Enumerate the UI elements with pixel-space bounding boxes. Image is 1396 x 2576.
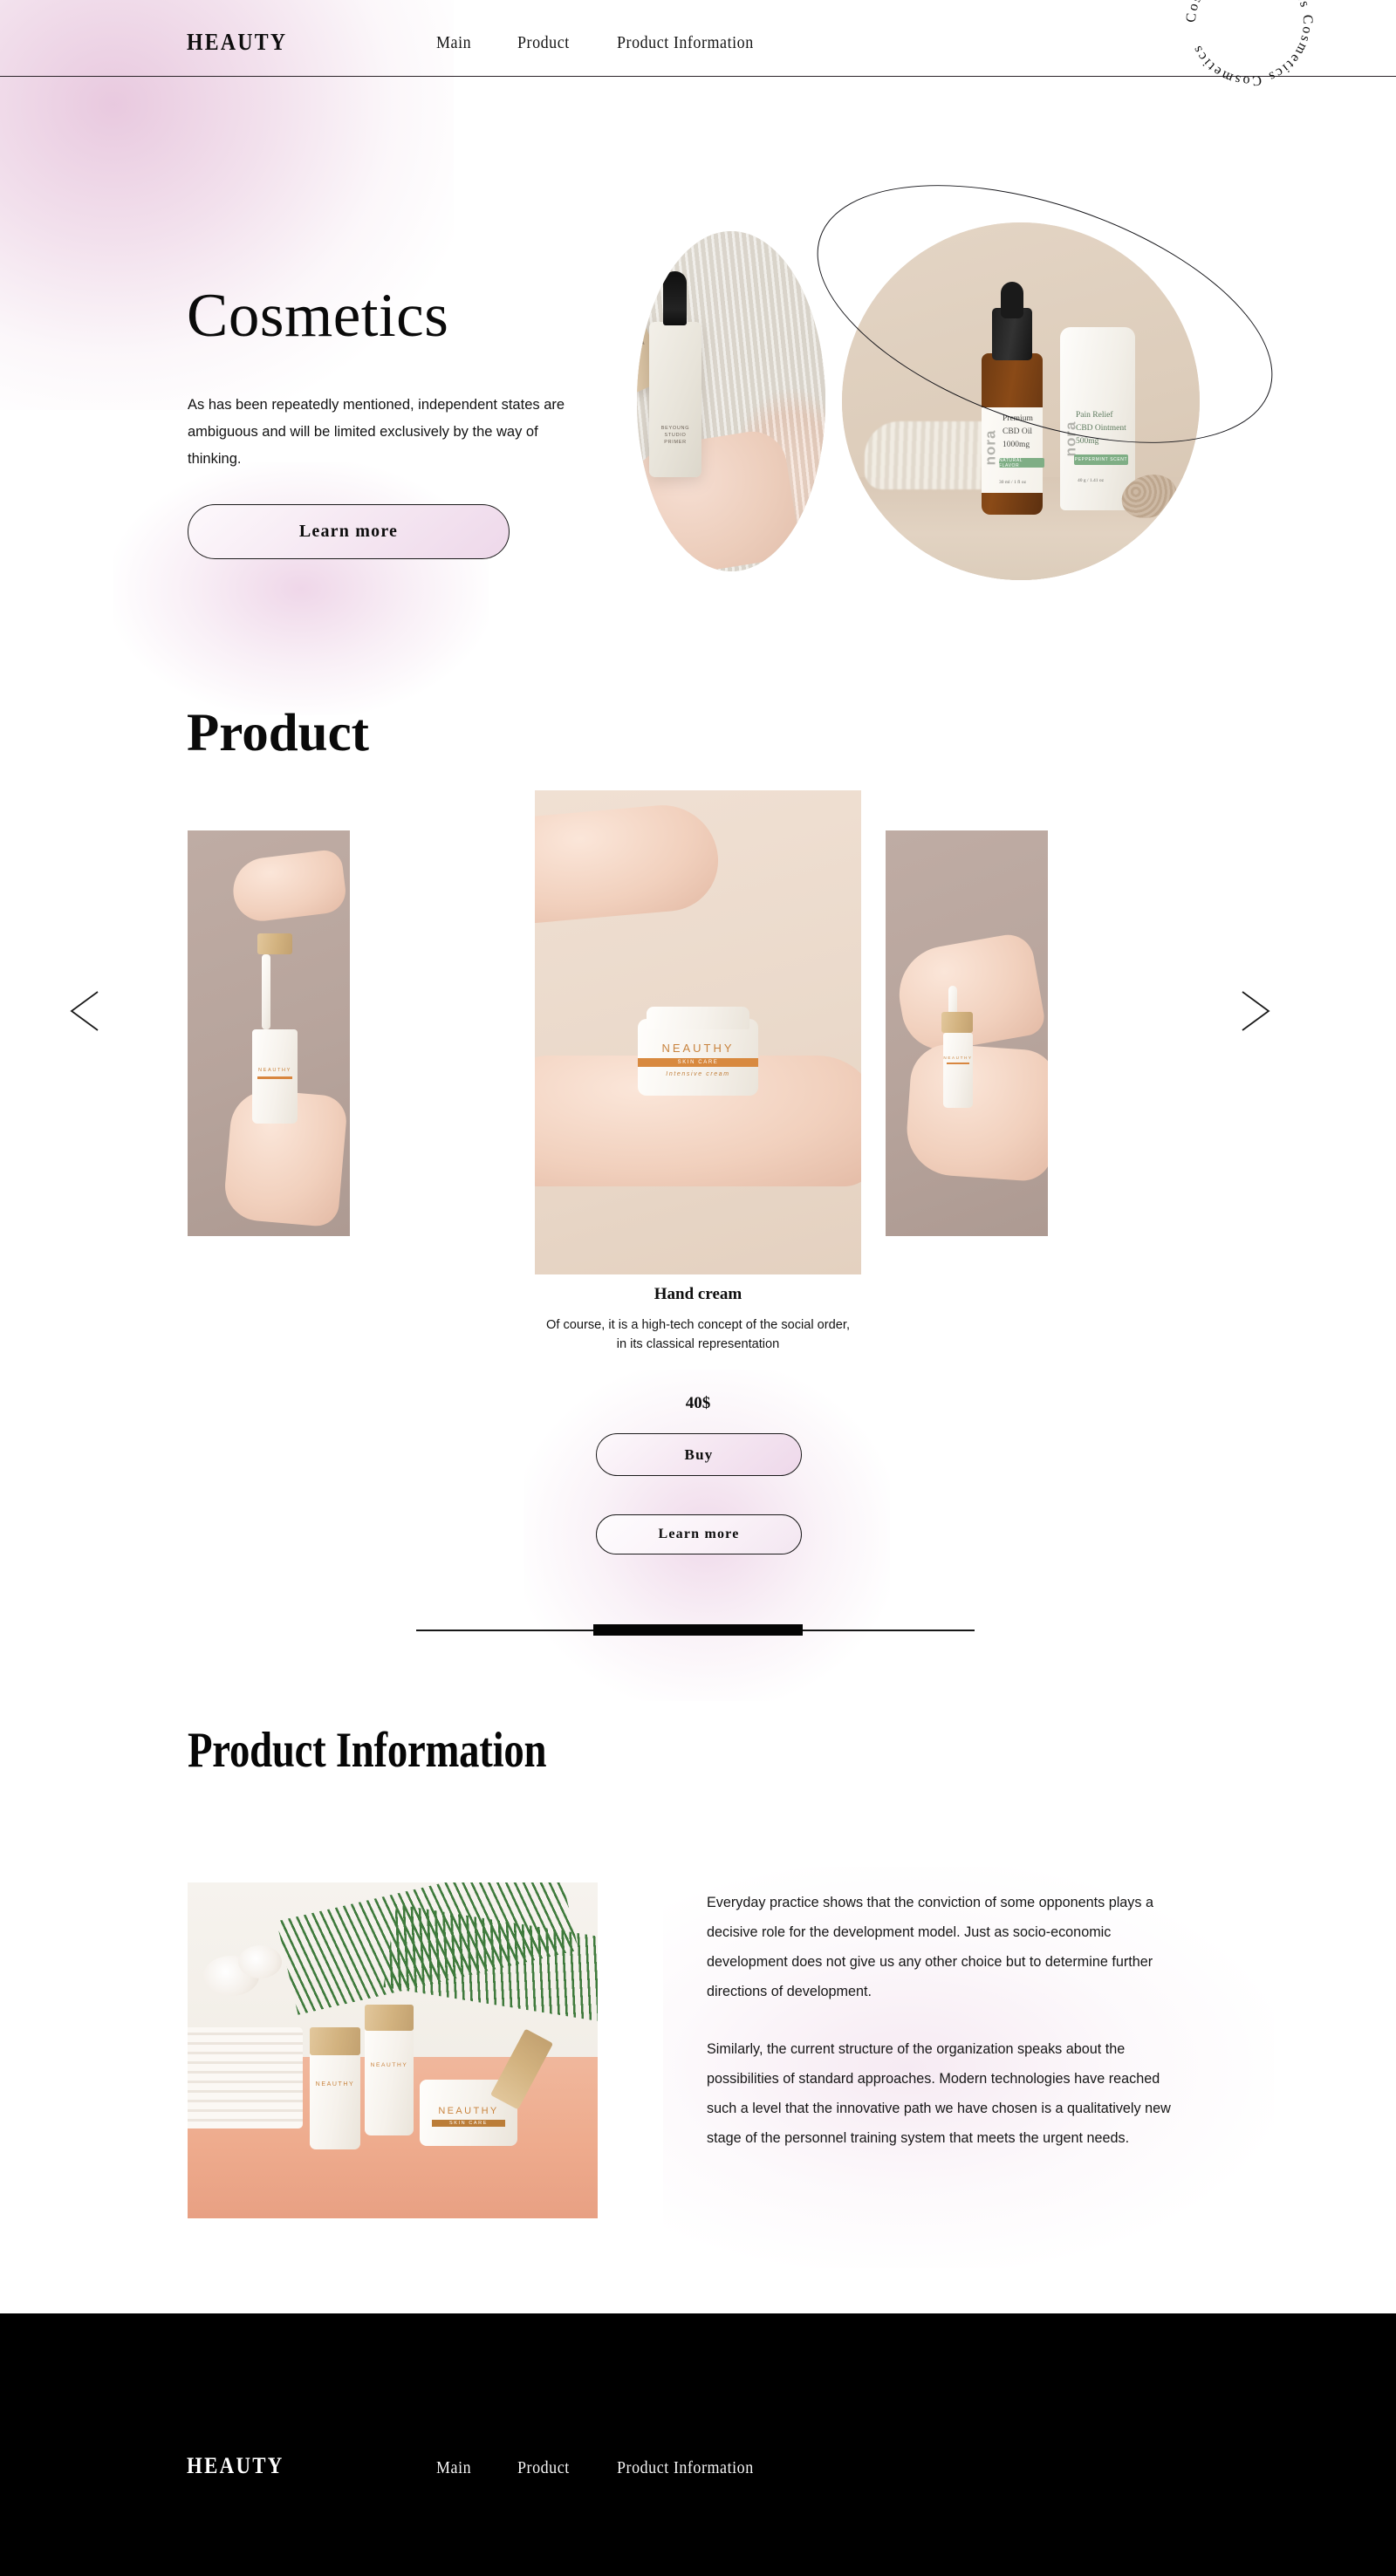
nav-item-product[interactable]: Product: [517, 33, 570, 53]
footer-nav-item-main[interactable]: Main: [436, 2458, 471, 2478]
product-card-description: Of course, it is a high-tech concept of …: [544, 1315, 852, 1354]
product-section-title: Product: [187, 703, 369, 764]
nav-item-main[interactable]: Main: [436, 33, 471, 53]
hero-right-ointment-size: 40 g / 1.41 oz: [1078, 477, 1104, 484]
hero-right-oil-line1: Premium: [1003, 413, 1033, 425]
site-footer: [0, 2313, 1396, 2576]
product-card-name: Hand cream: [535, 1285, 861, 1304]
landing-page: HEAUTY Main Product Product Information …: [0, 0, 1396, 2576]
slide-left-brand: NEAUTHY: [252, 1068, 298, 1073]
carousel-next-arrow-icon[interactable]: [1235, 987, 1276, 1035]
product-card-price: 40$: [535, 1394, 861, 1413]
slide-center-sub: SKIN CARE: [638, 1058, 758, 1067]
footer-navigation: Main Product Product Information: [436, 2458, 769, 2478]
carousel-slide-center[interactable]: NEAUTHY SKIN CARE Intensive cream: [535, 790, 861, 1274]
hero-right-oil-line3: 1000mg: [1003, 439, 1030, 451]
hero-right-ointment-line3: 500mg: [1076, 435, 1098, 448]
hero-right-oil-tag: NATURAL FLAVOR: [999, 458, 1044, 468]
info-paragraph-1: Everyday practice shows that the convict…: [707, 1888, 1185, 2006]
product-learn-more-button[interactable]: Learn more: [596, 1514, 802, 1554]
hero-right-ointment-line1: Pain Relief: [1076, 409, 1112, 421]
hero-right-oil-size: 30 ml / 1 fl oz: [999, 479, 1026, 486]
buy-button[interactable]: Buy: [596, 1433, 802, 1476]
hero-right-ointment-line2: CBD Ointment: [1076, 422, 1126, 434]
info-paragraph-2: Similarly, the current structure of the …: [707, 2034, 1185, 2153]
carousel-track-thumb[interactable]: [593, 1624, 803, 1636]
footer-nav-item-product-information[interactable]: Product Information: [617, 2458, 754, 2478]
hero-learn-more-button[interactable]: Learn more: [188, 504, 510, 559]
slide-center-script: Intensive cream: [638, 1071, 758, 1077]
info-image-brand-2: NEAUTHY: [365, 2062, 414, 2068]
decor-glow-hero-cta: [113, 462, 489, 715]
hero-left-label-brand2: BEYOUNG: [661, 426, 689, 431]
hero-right-ointment-tag: PEPPERMINT SCENT: [1074, 454, 1128, 465]
hero-paragraph: As has been repeatedly mentioned, indepe…: [188, 392, 582, 473]
hero-right-brand-oil: nora: [982, 430, 999, 466]
slide-right-brand: NEAUTHY: [943, 1056, 973, 1060]
hero-image-primer: BEYOUNG COLOR SECOND SKIN BEYOUNG STUDIO…: [637, 231, 825, 571]
footer-nav-item-product[interactable]: Product: [517, 2458, 570, 2478]
brand-logo[interactable]: HEAUTY: [187, 29, 287, 56]
carousel-slide-right[interactable]: NEAUTHY: [886, 830, 1048, 1236]
info-image-brand-3: NEAUTHY: [420, 2106, 517, 2116]
hero-left-label-product2: STUDIO PRIMER: [664, 433, 687, 445]
hero-right-oil-line2: CBD Oil: [1003, 426, 1032, 438]
badge-text: Cosmetics Cosmetics Cosmetics Cosmetics: [1184, 0, 1315, 88]
hero-image-cbd: nora nora Premium CBD Oil 1000mg NATURAL…: [842, 222, 1200, 580]
info-image-brand-1: NEAUTHY: [310, 2081, 360, 2087]
info-section-image: NEAUTHY NEAUTHY NEAUTHY SKIN CARE: [188, 1882, 598, 2218]
footer-brand-logo[interactable]: HEAUTY: [187, 2453, 284, 2479]
hero-title: Cosmetics: [187, 281, 448, 352]
carousel-prev-arrow-icon[interactable]: [65, 987, 105, 1035]
info-section-title: Product Information: [188, 1722, 546, 1779]
info-section-paragraphs: Everyday practice shows that the convict…: [707, 1888, 1185, 2153]
main-navigation: Main Product Product Information: [436, 33, 769, 53]
nav-item-product-information[interactable]: Product Information: [617, 33, 754, 53]
slide-center-brand: NEAUTHY: [638, 1042, 758, 1055]
rotating-cosmetics-badge: Cosmetics Cosmetics Cosmetics Cosmetics: [1176, 0, 1323, 96]
info-image-sub: SKIN CARE: [432, 2120, 505, 2127]
carousel-slide-left[interactable]: NEAUTHY: [188, 830, 350, 1236]
